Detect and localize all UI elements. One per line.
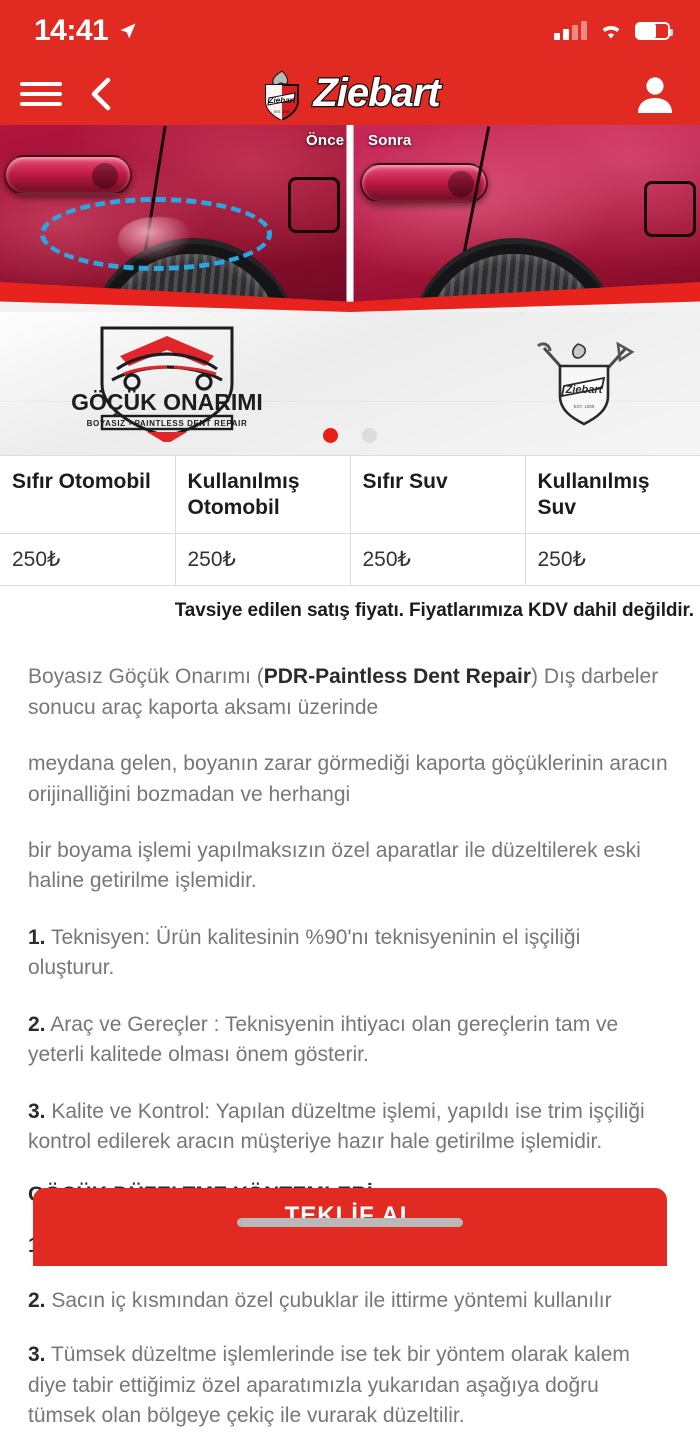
table-cell-price: 250₺: [0, 534, 175, 586]
wifi-icon: [598, 21, 624, 41]
table-row: 250₺ 250₺ 250₺ 250₺: [0, 534, 700, 586]
back-chevron-icon[interactable]: [88, 77, 114, 111]
before-image: [0, 125, 350, 312]
list-item-text: Kalite ve Kontrol: Yapılan düzeltme işle…: [28, 1100, 645, 1153]
paragraph-2: meydana gelen, boyanın zarar görmediği k…: [28, 749, 672, 810]
before-after-banner[interactable]: Önce Sonra: [0, 125, 700, 312]
location-arrow-icon: [118, 21, 138, 41]
gocuk-onarimi-logo-subtitle: BOYASIZ - PAINTLESS DENT REPAIR: [87, 419, 248, 428]
list-item: 1. Teknisyen: Ürün kalitesinin %90'nı te…: [28, 923, 672, 984]
list-item: 2. Araç ve Gereçler : Teknisyenin ihtiya…: [28, 1010, 672, 1071]
list-item-text: Tümsek düzeltme işlemlerinde ise tek bir…: [28, 1343, 630, 1427]
svg-text:EST. 1959: EST. 1959: [574, 404, 595, 409]
battery-icon: [635, 22, 670, 40]
before-after-divider: [347, 125, 354, 312]
status-bar-left: 14:41: [34, 14, 138, 48]
gocuk-onarimi-logo: GÖÇÜK ONARIMI BOYASIZ - PAINTLESS DENT R…: [62, 322, 272, 442]
app-header: Ziebart EST. 1959 Ziebart: [0, 62, 700, 125]
list-item: 3. Tümsek düzeltme işlemlerinde ise tek …: [28, 1340, 672, 1431]
svg-text:Ziebart: Ziebart: [565, 384, 604, 396]
list-item-text: Araç ve Gereçler : Teknisyenin ihtiyacı …: [28, 1013, 618, 1066]
price-disclaimer: Tavsiye edilen satış fiyatı. Fiyatlarımı…: [0, 586, 700, 622]
table-header-cell: Sıfır Suv: [350, 456, 525, 534]
header-left-controls: [20, 77, 114, 111]
svg-text:EST. 1959: EST. 1959: [274, 110, 290, 114]
home-indicator: [237, 1218, 463, 1227]
table-header-cell: Kullanılmış Otomobil: [175, 456, 350, 534]
cellular-signal-icon: [554, 22, 587, 40]
article-body: Boyasız Göçük Onarımı (PDR-Paintless Den…: [0, 622, 700, 1431]
brand-wordmark: Ziebart: [313, 71, 439, 116]
car-door-handle: [4, 155, 132, 195]
car-door-handle: [360, 163, 488, 203]
list-item-number: 3.: [28, 1100, 46, 1123]
list-item-text: Teknisyen: Ürün kalitesinin %90'nı tekni…: [28, 926, 580, 979]
paragraph-intro-bold: PDR-Paintless Dent Repair: [264, 665, 531, 688]
table-header-cell: Sıfır Otomobil: [0, 456, 175, 534]
status-bar-right: [554, 21, 670, 41]
svg-text:Ziebart: Ziebart: [268, 96, 296, 105]
list-item-number: 1.: [28, 926, 46, 949]
table-header-cell: Kullanılmış Suv: [525, 456, 700, 534]
account-person-icon[interactable]: [634, 73, 676, 115]
logo-carousel-band[interactable]: GÖÇÜK ONARIMI BOYASIZ - PAINTLESS DENT R…: [0, 312, 700, 455]
after-image: [350, 125, 700, 312]
carousel-dot-1[interactable]: [323, 428, 338, 443]
before-label: Önce: [306, 132, 344, 149]
ziebart-shield-icon: Ziebart EST. 1959: [260, 68, 304, 120]
after-label: Sonra: [368, 132, 412, 149]
list-item-number: 2.: [28, 1013, 46, 1036]
table-cell-price: 250₺: [350, 534, 525, 586]
list-item-number: 2.: [28, 1289, 46, 1312]
paragraph-3: bir boyama işlemi yapılmaksızın özel apa…: [28, 836, 672, 897]
list-item-text: Sacın iç kısmından özel çubuklar ile itt…: [51, 1289, 611, 1312]
car-fuel-cap: [288, 177, 340, 233]
car-fuel-cap: [644, 181, 696, 237]
cta-container: TEKLİF AL: [0, 1188, 700, 1244]
status-bar-time: 14:41: [34, 14, 108, 48]
status-bar: 14:41: [0, 0, 700, 62]
ziebart-tools-shield-icon: Ziebart EST. 1959: [530, 334, 638, 432]
table-header-row: Sıfır Otomobil Kullanılmış Otomobil Sıfı…: [0, 456, 700, 534]
carousel-dot-2[interactable]: [362, 428, 377, 443]
table-cell-price: 250₺: [525, 534, 700, 586]
hamburger-menu-icon[interactable]: [20, 80, 62, 108]
list-item-number: 3.: [28, 1343, 46, 1366]
list-item: 2. Sacın iç kısmından özel çubuklar ile …: [28, 1286, 672, 1316]
get-quote-button[interactable]: TEKLİF AL: [33, 1188, 667, 1266]
gocuk-onarimi-logo-title: GÖÇÜK ONARIMI: [71, 389, 263, 415]
list-item: 3. Kalite ve Kontrol: Yapılan düzeltme i…: [28, 1097, 672, 1158]
table-cell-price: 250₺: [175, 534, 350, 586]
paragraph-intro: Boyasız Göçük Onarımı (PDR-Paintless Den…: [28, 662, 672, 723]
paragraph-intro-pre: Boyasız Göçük Onarımı (: [28, 665, 264, 688]
price-table: Sıfır Otomobil Kullanılmış Otomobil Sıfı…: [0, 455, 700, 586]
carousel-dots[interactable]: [0, 428, 700, 443]
dashed-oval-highlight: [40, 197, 272, 271]
